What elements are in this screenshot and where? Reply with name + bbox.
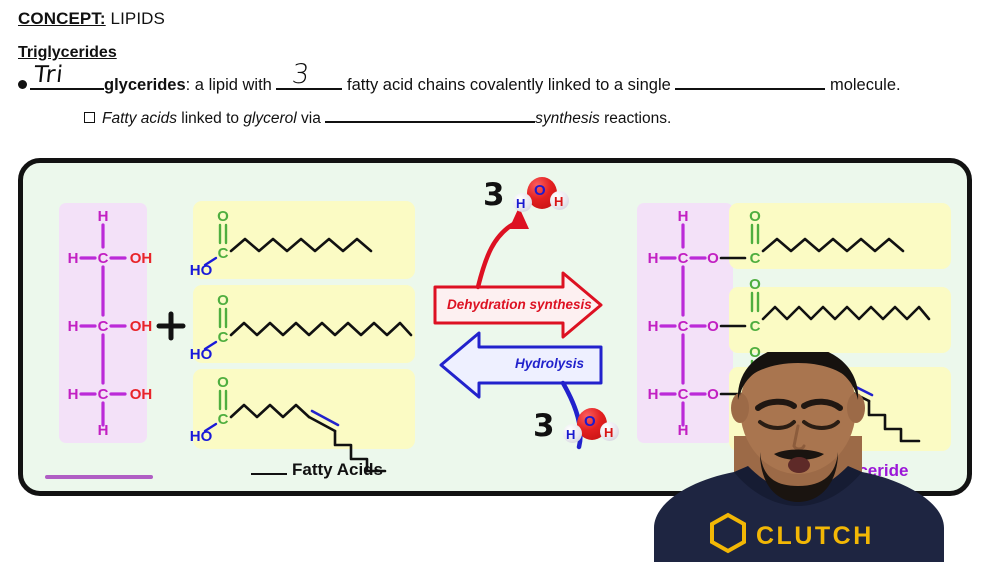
water-molecule-top: 3 O H H	[509, 177, 579, 221]
blank-molecule[interactable]	[675, 88, 825, 90]
concept-line: CONCEPT: LIPIDS	[18, 8, 988, 30]
glycerol-blank-line[interactable]	[45, 475, 153, 479]
fatty-acids-text: Fatty Acids	[292, 460, 383, 479]
section-heading: Triglycerides	[18, 43, 988, 63]
reactant-fatty-acid-box-2	[193, 285, 415, 363]
dehydration-synthesis-label: Dehydration synthesis	[447, 297, 592, 312]
sub-bullet-line: Fatty acids linked to glycerol via synth…	[84, 108, 988, 130]
concept-value: LIPIDS	[106, 9, 165, 28]
fatty-acids-italic: Fatty acids	[102, 110, 177, 127]
water-molecule-bottom: 3 O H H	[559, 408, 629, 452]
blank-tri[interactable]: Tri	[30, 88, 104, 90]
clutch-wordmark: CLUTCH	[756, 522, 874, 550]
hydrolysis-label: Hydrolysis	[515, 356, 584, 371]
blank-number[interactable]: 3	[276, 88, 342, 90]
sub-text-3: reactions.	[600, 110, 672, 127]
product-fatty-acid-box-1	[729, 203, 951, 269]
reactant-fatty-acid-box-1	[193, 201, 415, 279]
handwritten-tri: Tri	[33, 64, 65, 87]
header-text-block: CONCEPT: LIPIDS Triglycerides Triglyceri…	[18, 8, 988, 130]
fatty-acids-label: Fatty Acids	[251, 460, 383, 480]
handwritten-three: 3	[291, 61, 312, 88]
definition-text-2: fatty acid chains covalently linked to a…	[342, 76, 675, 94]
glycerol-italic: glycerol	[243, 110, 296, 127]
oxygen-atom-label-top: O	[534, 183, 546, 198]
glycerides-word: glycerides	[104, 76, 186, 94]
square-bullet-icon	[84, 112, 95, 123]
hydrogen-left-label-top: H	[516, 197, 525, 210]
bullet-dot-icon	[18, 80, 27, 89]
hydrogen-left-label-bottom: H	[566, 428, 575, 441]
bullet-definition: Triglycerides: a lipid with 3 fatty acid…	[18, 72, 988, 98]
sub-text-1: linked to	[177, 110, 243, 127]
definition-text-1: : a lipid with	[186, 76, 277, 94]
presenter-figure: CLUTCH	[648, 352, 1000, 562]
presenter-webcam-overlay: CLUTCH	[648, 352, 1000, 562]
synthesis-italic: synthesis	[535, 110, 600, 127]
reactant-glycerol-box	[59, 203, 147, 443]
lesson-slide: CONCEPT: LIPIDS Triglycerides Triglyceri…	[0, 0, 1000, 562]
hydrogen-right-label-bottom: H	[604, 426, 613, 439]
sub-text-2: via	[297, 110, 325, 127]
reactant-fatty-acid-box-3	[193, 369, 415, 449]
product-fatty-acid-box-2	[729, 287, 951, 353]
water-count-top: 3	[483, 180, 505, 211]
definition-text-3: molecule.	[825, 76, 900, 94]
water-count-bottom: 3	[533, 411, 555, 442]
oxygen-atom-label-bottom: O	[584, 414, 596, 429]
concept-label: CONCEPT:	[18, 9, 106, 28]
blank-dehydration[interactable]	[325, 121, 535, 123]
fatty-acids-blank[interactable]	[251, 473, 287, 475]
hydrogen-right-label-top: H	[554, 195, 563, 208]
